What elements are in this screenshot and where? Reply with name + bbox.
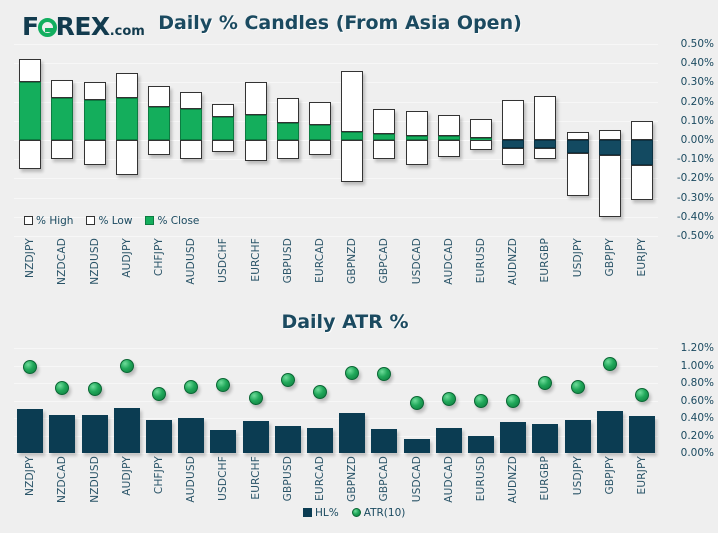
legend-item: HL%	[303, 507, 339, 519]
x-axis-label: AUDNZD	[507, 238, 519, 285]
candle-segment-low	[19, 140, 41, 169]
atr-bar	[114, 408, 140, 454]
x-axis-label: EURJPY	[636, 238, 648, 276]
candle-segment-low	[277, 140, 299, 159]
candle-segment-high	[309, 102, 331, 125]
candle-segment-low	[309, 140, 331, 155]
atr-plot-area	[14, 348, 658, 453]
atr-marker	[152, 387, 166, 401]
x-axis-label: USDCHF	[217, 456, 229, 501]
candles-gridline	[14, 102, 658, 103]
legend-label: % Low	[98, 215, 132, 227]
atr-gridline	[14, 401, 658, 402]
atr-marker	[410, 396, 424, 410]
candle-segment-high	[180, 92, 202, 109]
candle-segment-low	[148, 140, 170, 155]
x-axis-label: AUDUSD	[185, 456, 197, 503]
x-axis-label: CHFJPY	[153, 456, 165, 494]
candle-segment-high	[341, 71, 363, 132]
x-axis-label: AUDUSD	[185, 238, 197, 285]
x-axis-label: AUDJPY	[121, 238, 133, 278]
x-axis-label: EURCHF	[250, 456, 262, 500]
candle-segment-low	[438, 140, 460, 157]
candle-segment-close-pos	[245, 115, 267, 140]
legend-label: HL%	[315, 507, 339, 519]
candle-segment-high	[438, 115, 460, 136]
atr-bar	[629, 416, 655, 453]
candles-y-tick: -0.50%	[658, 230, 714, 242]
candle-segment-high	[406, 111, 428, 136]
candle-segment-low	[84, 140, 106, 165]
candle-segment-high	[245, 82, 267, 115]
x-axis-label: EURJPY	[636, 456, 648, 494]
x-axis-label: GBPUSD	[282, 456, 294, 501]
candle-segment-close-pos	[309, 125, 331, 140]
atr-y-tick: 0.40%	[658, 412, 714, 424]
candle-segment-high	[84, 82, 106, 99]
atr-bar	[146, 420, 172, 453]
atr-gridline	[14, 348, 658, 349]
atr-marker	[313, 385, 327, 399]
x-axis-label: GBPCAD	[378, 238, 390, 283]
atr-gridline	[14, 383, 658, 384]
candles-gridline	[14, 178, 658, 179]
atr-gridline	[14, 453, 658, 454]
atr-bar	[49, 415, 75, 453]
x-axis-label: USDCAD	[411, 238, 423, 284]
candle-segment-low	[567, 153, 589, 195]
atr-bar	[275, 426, 301, 453]
candle-segment-close-neg	[567, 140, 589, 153]
atr-marker	[474, 394, 488, 408]
x-axis-label: EURGBP	[539, 456, 551, 501]
atr-y-tick: 0.20%	[658, 430, 714, 442]
x-axis-label: USDCAD	[411, 456, 423, 502]
atr-y-tick: 1.00%	[658, 360, 714, 372]
atr-bar	[339, 413, 365, 453]
atr-marker	[571, 380, 585, 394]
atr-gridline	[14, 366, 658, 367]
x-axis-label: EURGBP	[539, 238, 551, 283]
x-axis-label: EURCAD	[314, 456, 326, 501]
atr-chart-title: Daily ATR %	[0, 311, 690, 333]
x-axis-label: USDCHF	[217, 238, 229, 283]
candle-segment-close-pos	[148, 107, 170, 140]
atr-marker	[345, 366, 359, 380]
candles-y-tick: -0.40%	[658, 211, 714, 223]
candles-gridline	[14, 44, 658, 45]
candle-segment-high	[212, 104, 234, 117]
candle-segment-high	[502, 100, 524, 140]
x-axis-label: EURCAD	[314, 238, 326, 283]
candles-y-tick: -0.30%	[658, 192, 714, 204]
candle-segment-low	[245, 140, 267, 161]
legend-swatch-white	[24, 216, 33, 225]
candles-gridline	[14, 236, 658, 237]
candles-y-tick: -0.20%	[658, 172, 714, 184]
candle-segment-low	[599, 155, 621, 216]
candle-segment-high	[567, 132, 589, 140]
x-axis-label: AUDCAD	[443, 238, 455, 285]
candles-y-tick: 0.10%	[658, 115, 714, 127]
legend-item: ATR(10)	[352, 507, 406, 519]
candle-segment-high	[116, 73, 138, 98]
x-axis-label: NZDJPY	[24, 238, 36, 278]
x-axis-label: AUDNZD	[507, 456, 519, 503]
atr-bar	[404, 439, 430, 453]
x-axis-label: USDJPY	[572, 456, 584, 495]
x-axis-label: GBPJPY	[604, 456, 616, 494]
candles-y-tick: 0.50%	[658, 38, 714, 50]
atr-bar	[307, 428, 333, 453]
atr-marker	[216, 378, 230, 392]
x-axis-label: GBPUSD	[282, 238, 294, 283]
atr-y-tick: 1.20%	[658, 342, 714, 354]
candle-segment-low	[406, 140, 428, 165]
candles-plot-area	[14, 44, 658, 236]
candle-segment-high	[599, 130, 621, 140]
candle-segment-close-neg	[502, 140, 524, 148]
atr-bar	[82, 415, 108, 453]
atr-bar	[565, 420, 591, 453]
candles-y-tick: -0.10%	[658, 153, 714, 165]
candle-segment-low	[212, 140, 234, 152]
x-axis-label: EURCHF	[250, 238, 262, 282]
atr-bar	[436, 428, 462, 453]
legend-swatch-white	[86, 216, 95, 225]
candle-segment-high	[148, 86, 170, 107]
x-axis-label: GBPCAD	[378, 456, 390, 501]
candle-segment-close-pos	[341, 132, 363, 140]
x-axis-label: CHFJPY	[153, 238, 165, 276]
x-axis-label: GBPNZD	[346, 456, 358, 502]
atr-marker	[603, 357, 617, 371]
x-axis-label: NZDUSD	[89, 456, 101, 503]
candle-segment-low	[373, 140, 395, 159]
legend-item: % Low	[86, 215, 132, 227]
atr-marker	[88, 382, 102, 396]
atr-y-tick: 0.00%	[658, 447, 714, 459]
atr-legend: HL%ATR(10)	[303, 507, 418, 519]
candle-segment-high	[631, 121, 653, 140]
legend-label: % High	[36, 215, 73, 227]
candles-y-tick: 0.40%	[658, 57, 714, 69]
x-axis-label: EURUSD	[475, 238, 487, 283]
candles-zero-line	[14, 140, 658, 141]
candle-segment-close-pos	[277, 123, 299, 140]
logo-euro-icon	[38, 18, 57, 37]
atr-bar	[532, 424, 558, 453]
candle-segment-high	[373, 109, 395, 134]
legend-swatch-dot	[352, 508, 361, 517]
candles-gridline	[14, 159, 658, 160]
candle-segment-close-pos	[51, 98, 73, 140]
candles-gridline	[14, 198, 658, 199]
atr-y-tick: 0.60%	[658, 395, 714, 407]
atr-marker	[120, 359, 134, 373]
atr-bar	[597, 411, 623, 453]
candle-segment-low	[470, 140, 492, 150]
atr-bar	[17, 409, 43, 453]
x-axis-label: GBPJPY	[604, 238, 616, 276]
candle-segment-close-pos	[180, 109, 202, 140]
legend-swatch-green	[145, 216, 154, 225]
candle-segment-low	[631, 165, 653, 200]
candle-segment-low	[534, 148, 556, 160]
candle-segment-low	[116, 140, 138, 175]
candle-segment-close-neg	[631, 140, 653, 165]
candle-segment-high	[534, 96, 556, 140]
atr-marker	[281, 373, 295, 387]
atr-y-tick: 0.80%	[658, 377, 714, 389]
x-axis-label: AUDCAD	[443, 456, 455, 503]
atr-bar	[500, 422, 526, 454]
candle-segment-close-pos	[116, 98, 138, 140]
x-axis-label: USDJPY	[572, 238, 584, 277]
atr-bar	[371, 429, 397, 454]
candle-segment-low	[180, 140, 202, 159]
candle-segment-high	[277, 98, 299, 123]
legend-item: % High	[24, 215, 73, 227]
candle-segment-close-pos	[212, 117, 234, 140]
atr-bar	[243, 421, 269, 453]
logo-text-first: F	[22, 12, 39, 41]
screenshot-root: FREX.com Daily % Candles (From Asia Open…	[0, 0, 718, 533]
candles-gridline	[14, 121, 658, 122]
candles-legend: % High% Low% Close	[24, 215, 212, 227]
candles-gridline	[14, 63, 658, 64]
legend-swatch-navy	[303, 508, 312, 517]
candle-segment-close-pos	[19, 82, 41, 140]
candle-segment-low	[51, 140, 73, 159]
legend-label: % Close	[157, 215, 199, 227]
candles-gridline	[14, 82, 658, 83]
candle-segment-low	[341, 140, 363, 182]
atr-bar	[468, 436, 494, 454]
atr-marker	[249, 391, 263, 405]
candle-segment-high	[51, 80, 73, 97]
legend-label: ATR(10)	[364, 507, 406, 519]
x-axis-label: EURUSD	[475, 456, 487, 501]
x-axis-label: NZDCAD	[56, 238, 68, 285]
candles-y-tick: 0.30%	[658, 76, 714, 88]
atr-gridline	[14, 436, 658, 437]
candle-segment-close-neg	[534, 140, 556, 148]
candle-segment-close-pos	[84, 100, 106, 140]
x-axis-label: NZDCAD	[56, 456, 68, 503]
x-axis-label: AUDJPY	[121, 456, 133, 496]
candle-segment-high	[19, 59, 41, 82]
candles-y-tick: 0.00%	[658, 134, 714, 146]
legend-item: % Close	[145, 215, 199, 227]
candle-segment-close-neg	[599, 140, 621, 155]
atr-bar	[210, 430, 236, 453]
candle-segment-low	[502, 148, 524, 165]
x-axis-label: GBPNZD	[346, 238, 358, 284]
x-axis-label: NZDUSD	[89, 238, 101, 285]
atr-bar	[178, 418, 204, 453]
candles-y-tick: 0.20%	[658, 96, 714, 108]
candles-chart-title: Daily % Candles (From Asia Open)	[60, 12, 620, 34]
atr-gridline	[14, 418, 658, 419]
x-axis-label: NZDJPY	[24, 456, 36, 496]
candle-segment-high	[470, 119, 492, 138]
atr-marker	[442, 392, 456, 406]
